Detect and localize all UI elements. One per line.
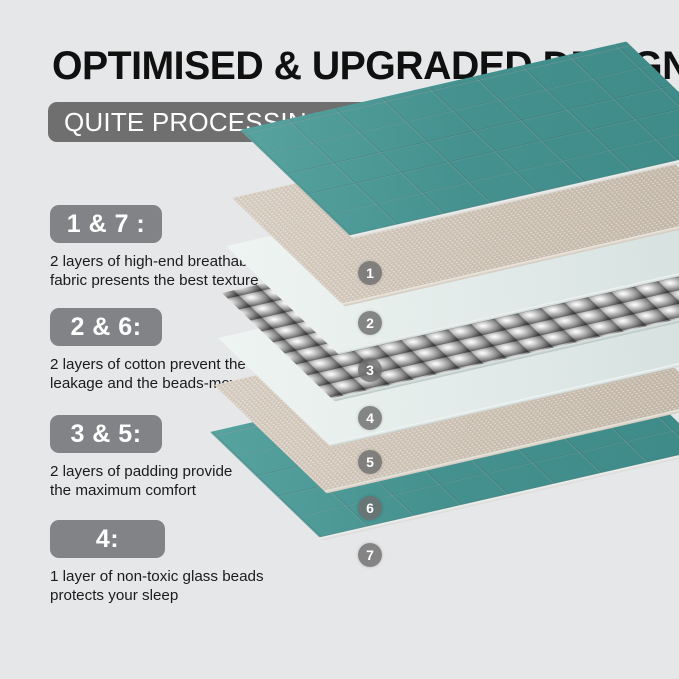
feature-label-3: 3 & 5: xyxy=(70,420,141,449)
feature-pill-1: 1 & 7 : xyxy=(50,205,162,243)
layer-badge-5: 5 xyxy=(358,450,382,474)
layer-badge-2: 2 xyxy=(358,311,382,335)
layer-badge-7: 7 xyxy=(358,543,382,567)
feature-block-4: 4: 1 layer of non-toxic glass beads prot… xyxy=(50,520,312,605)
feature-label-1: 1 & 7 : xyxy=(67,210,146,239)
feature-pill-4: 4: xyxy=(50,520,165,558)
exploded-layer-diagram: 1 2 3 4 5 6 7 xyxy=(300,150,679,670)
feature-label-4: 4: xyxy=(96,525,119,554)
layer-badge-4: 4 xyxy=(358,406,382,430)
feature-pill-3: 3 & 5: xyxy=(50,415,162,453)
layer-badge-1: 1 xyxy=(358,261,382,285)
infographic-page: OPTIMISED & UPGRADED DESIGN QUITE PROCES… xyxy=(0,0,679,679)
feature-pill-2: 2 & 6: xyxy=(50,308,162,346)
layer-badge-3: 3 xyxy=(358,358,382,382)
feature-label-2: 2 & 6: xyxy=(70,313,141,342)
feature-description-4: 1 layer of non-toxic glass beads protect… xyxy=(50,567,312,605)
layer-badge-6: 6 xyxy=(358,496,382,520)
